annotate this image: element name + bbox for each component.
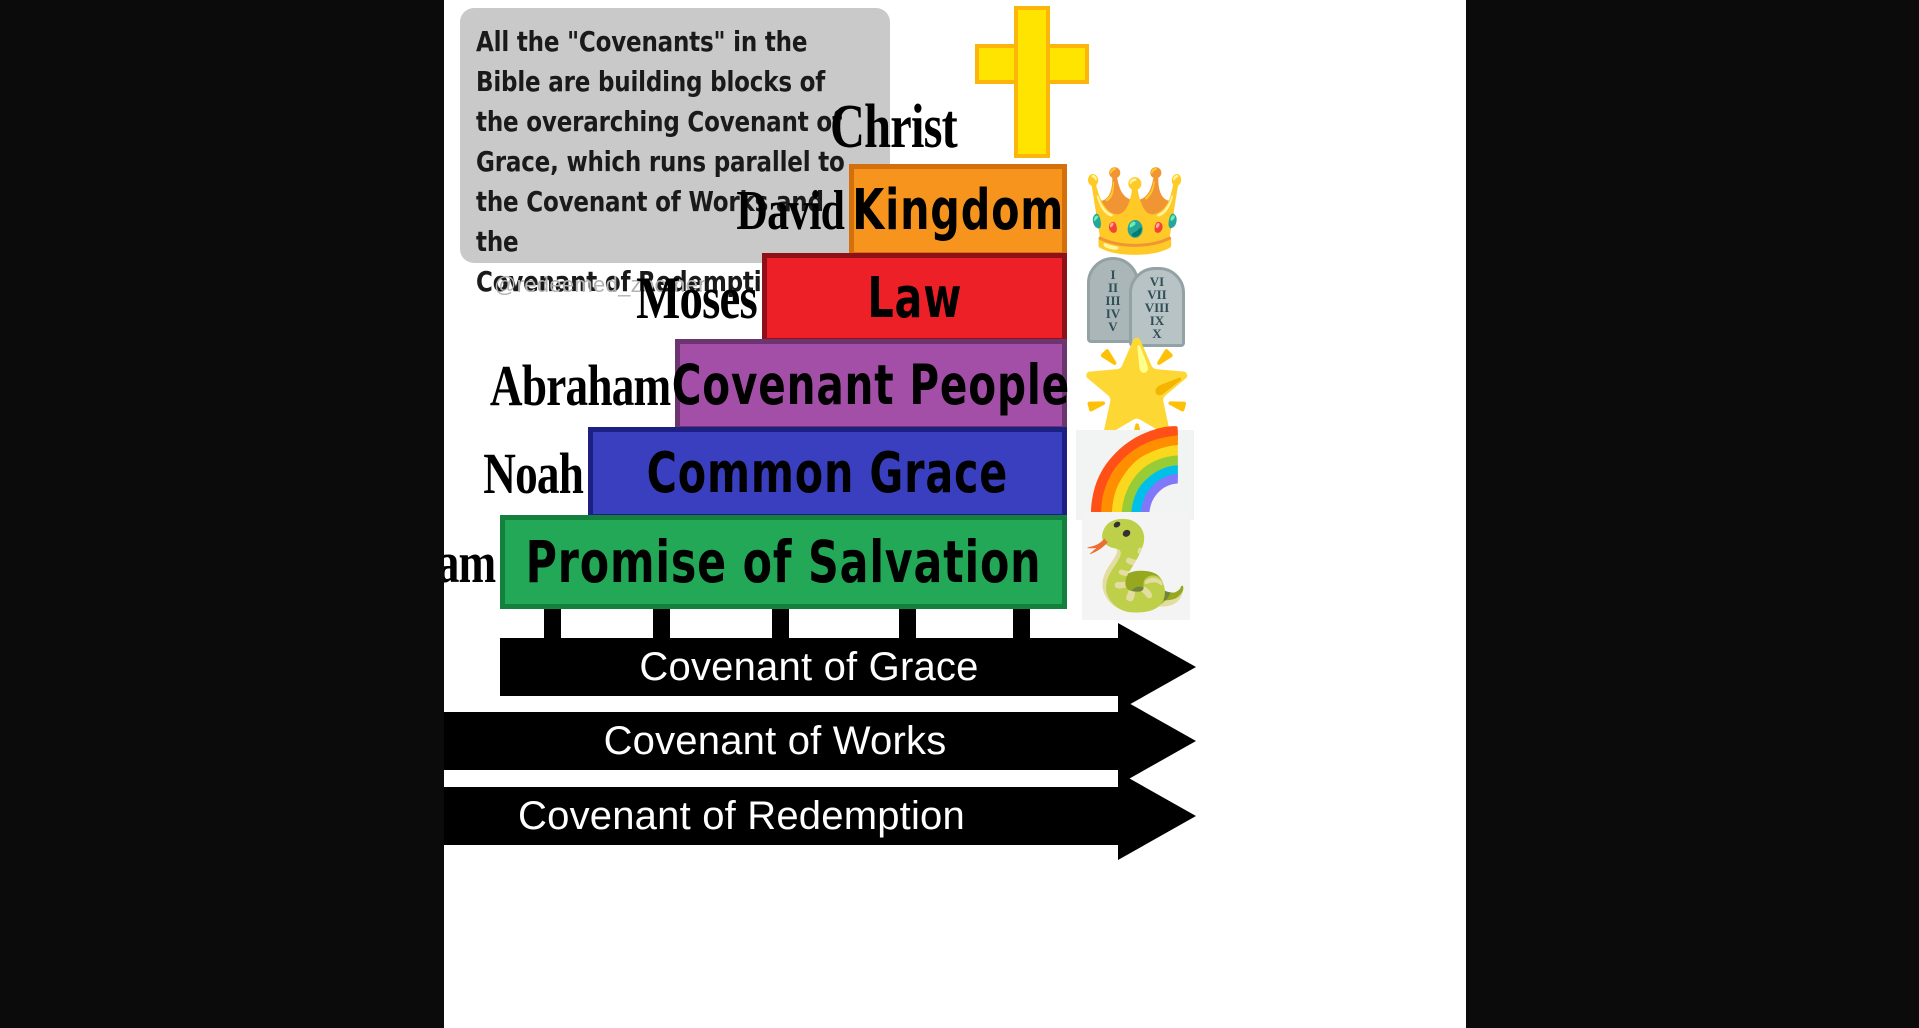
step-covenant-people[interactable]: Abraham Covenant People bbox=[675, 339, 1067, 431]
tablet-left-numerals: I II III IV V bbox=[1105, 268, 1120, 333]
arrow-covenant-of-grace[interactable]: Covenant of Grace bbox=[500, 638, 1180, 696]
infographic-canvas: All the "Covenants" in the Bible are bui… bbox=[444, 0, 1466, 1028]
step-title-common-grace: Common Grace bbox=[647, 441, 1008, 506]
step-person-noah: Noah bbox=[483, 440, 583, 507]
arrow-body: Covenant of Grace bbox=[500, 638, 1118, 696]
cross-vertical-bar bbox=[1014, 6, 1050, 158]
arrow-label-covenant-of-redemption: Covenant of Redemption bbox=[518, 794, 965, 839]
step-person-abraham: Abraham bbox=[489, 352, 670, 419]
tablets-shape: I II III IV V VI VII VIII IX X bbox=[1085, 253, 1189, 347]
latin-cross-icon bbox=[972, 6, 1082, 166]
step-person-moses: Moses bbox=[636, 264, 757, 333]
screenshot-root: All the "Covenants" in the Bible are bui… bbox=[0, 0, 1919, 1028]
connector-tick bbox=[653, 609, 670, 641]
step-title-covenant-people: Covenant People bbox=[672, 353, 1070, 417]
connector-tick bbox=[899, 609, 916, 641]
step-law[interactable]: Moses Law bbox=[762, 253, 1067, 343]
tablet-right-numerals: VI VII VIII IX X bbox=[1145, 275, 1170, 340]
connector-tick bbox=[544, 609, 561, 641]
tablet-right: VI VII VIII IX X bbox=[1129, 267, 1185, 347]
connector-tick bbox=[1013, 609, 1030, 641]
step-common-grace[interactable]: Noah Common Grace bbox=[588, 427, 1067, 519]
step-title-kingdom: Kingdom bbox=[852, 178, 1064, 243]
crown-icon: 👑 bbox=[1080, 165, 1190, 255]
connector-tick bbox=[772, 609, 789, 641]
stone-tablets-icon: I II III IV V VI VII VIII IX X bbox=[1082, 252, 1192, 348]
arrow-head bbox=[1118, 772, 1196, 860]
step-title-promise-of-salvation: Promise of Salvation bbox=[526, 528, 1042, 596]
arrow-body: Covenant of Redemption bbox=[444, 787, 1118, 845]
christ-label: Christ bbox=[830, 92, 957, 163]
step-promise-of-salvation[interactable]: Adam Promise of Salvation bbox=[500, 515, 1067, 609]
arrow-label-covenant-of-grace: Covenant of Grace bbox=[639, 645, 978, 690]
step-title-law: Law bbox=[867, 266, 962, 331]
step-kingdom[interactable]: David Kingdom bbox=[849, 164, 1067, 257]
serpent-icon: 🐍 bbox=[1082, 512, 1190, 620]
arrow-label-covenant-of-works: Covenant of Works bbox=[604, 719, 947, 764]
step-person-adam: Adam bbox=[444, 529, 495, 596]
arrow-covenant-of-works[interactable]: Covenant of Works bbox=[444, 712, 1180, 770]
rainbow-icon: 🌈 bbox=[1076, 430, 1194, 520]
step-person-david: David bbox=[736, 179, 844, 243]
arrow-body: Covenant of Works bbox=[444, 712, 1118, 770]
stars-icon: 🌟 bbox=[1078, 340, 1196, 436]
arrow-covenant-of-redemption[interactable]: Covenant of Redemption bbox=[444, 787, 1180, 845]
